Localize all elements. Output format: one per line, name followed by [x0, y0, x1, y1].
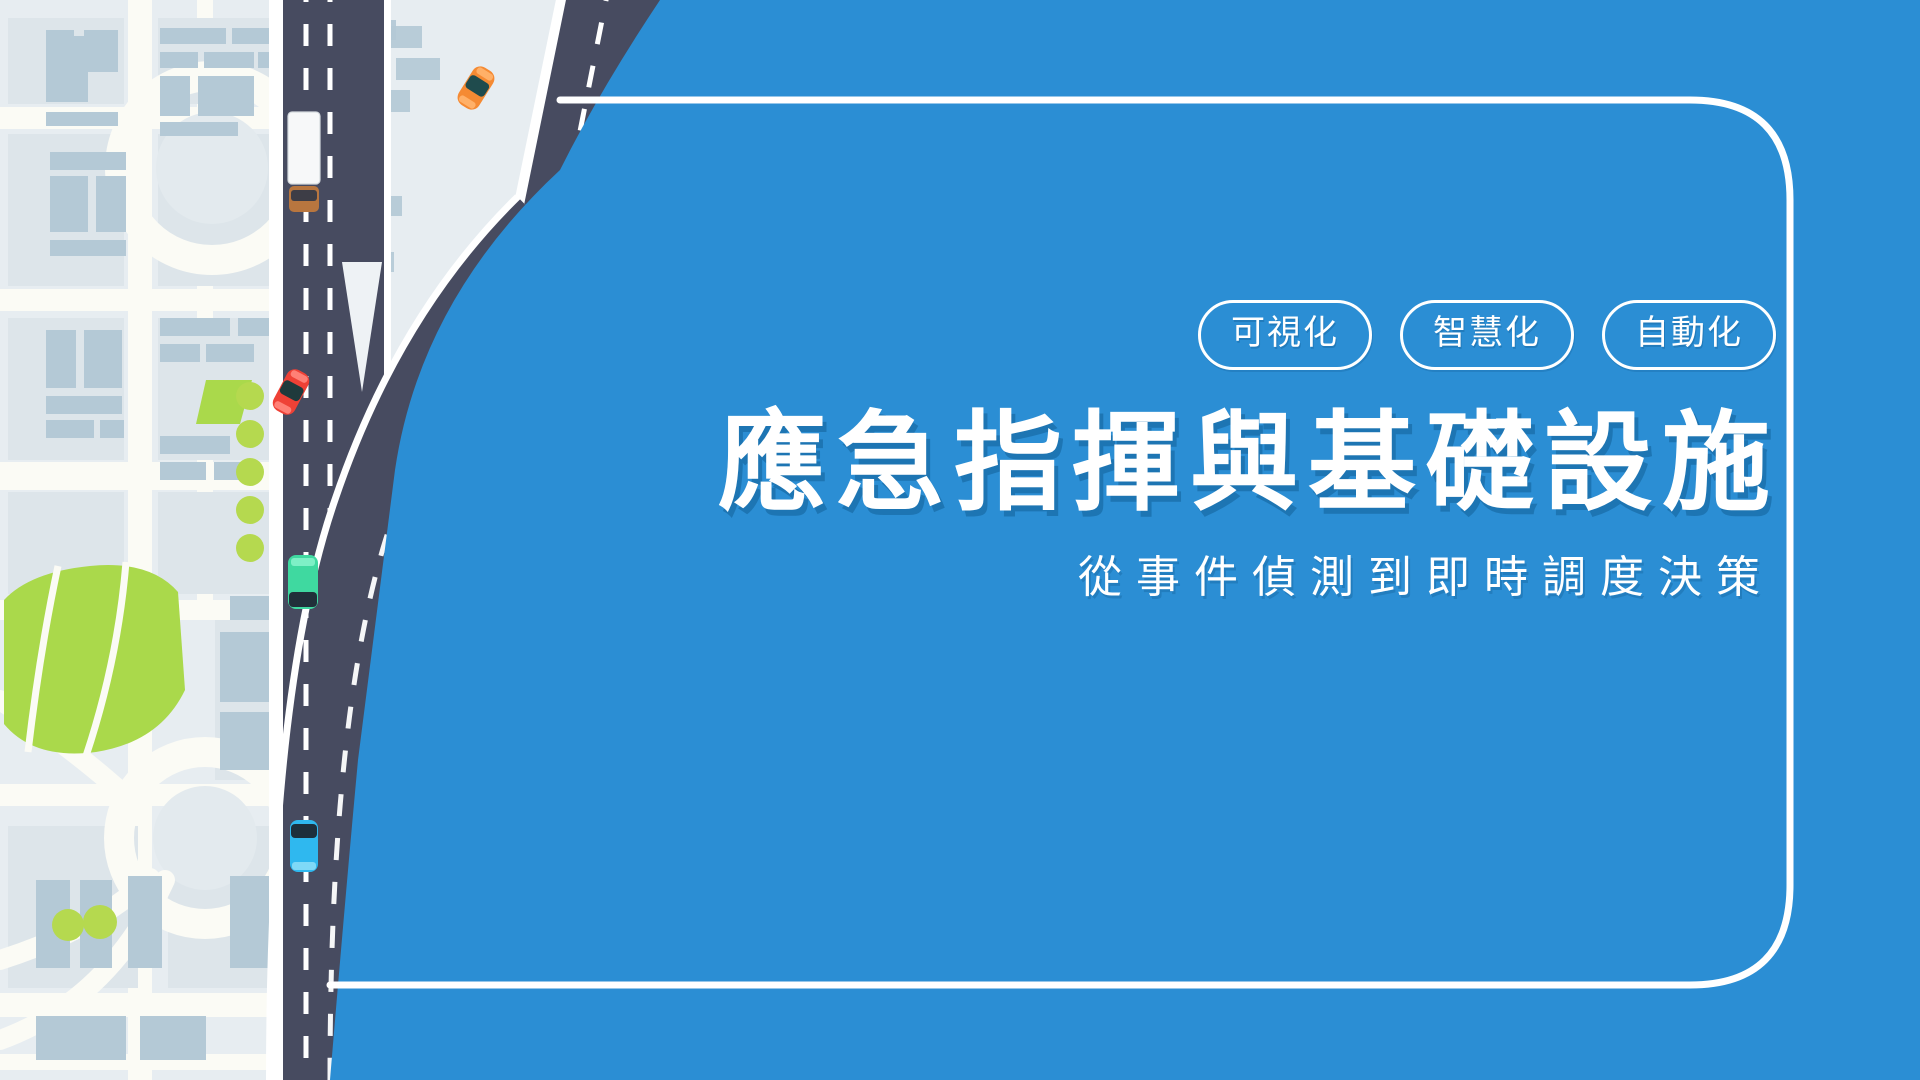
page-title: 應急指揮與基礎設施: [520, 406, 1800, 519]
banner-root: 可視化 智慧化 自動化 應急指揮與基礎設施 從事件偵測到即時調度決策: [0, 0, 1920, 1080]
badge-automation[interactable]: 自動化: [1602, 300, 1776, 370]
badge-visualization[interactable]: 可視化: [1198, 300, 1372, 370]
hero-content: 可視化 智慧化 自動化 應急指揮與基礎設施 從事件偵測到即時調度決策: [520, 300, 1800, 780]
page-subtitle: 從事件偵測到即時調度決策: [520, 541, 1800, 605]
badge-row: 可視化 智慧化 自動化: [520, 300, 1800, 370]
badge-intelligent[interactable]: 智慧化: [1400, 300, 1574, 370]
